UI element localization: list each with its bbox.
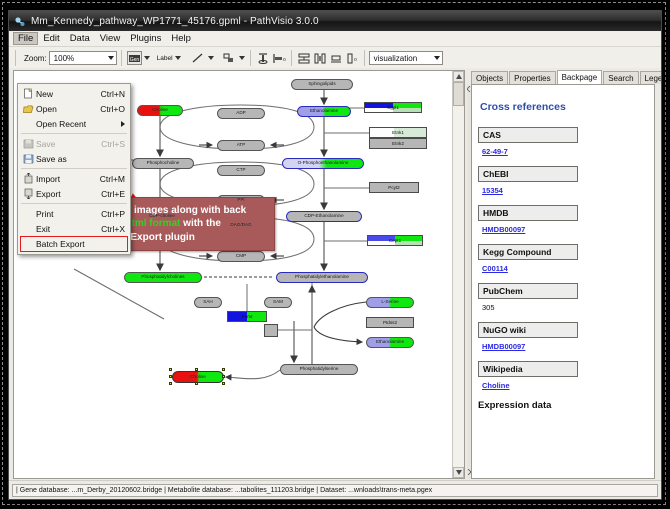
menu-item-exit[interactable]: Exit Ctrl+X — [18, 221, 130, 236]
xref-group-wikipedia: Wikipedia Choline — [478, 361, 652, 390]
xref-group-pubchem: PubChem 305 — [478, 283, 652, 312]
node-cept1[interactable]: Cept1 — [367, 235, 423, 246]
scroll-up-button[interactable] — [453, 71, 464, 82]
menu-item-label: Open — [36, 104, 100, 114]
node-label: L-Serine — [381, 300, 398, 305]
zoom-combobox[interactable]: 100% — [49, 51, 117, 65]
node-label: CTP — [236, 168, 245, 173]
node-label: ATP — [237, 143, 246, 148]
node-label: Ethanolamine — [310, 109, 338, 114]
node-pisd[interactable] — [264, 324, 278, 337]
node-cdp-ethanolamine[interactable]: CDP-Ethanolamine — [286, 211, 362, 222]
pathvisio-app-icon — [14, 15, 26, 27]
file-menu-dropdown[interactable]: New Ctrl+N Open Ctrl+O Open Recent — [17, 83, 131, 255]
blank-icon — [21, 117, 36, 130]
menu-file[interactable]: File — [13, 32, 38, 45]
node-phosphatidylethanolamine[interactable]: Phosphatidylethanolamine — [276, 272, 368, 283]
save-disk-icon — [21, 137, 36, 150]
xref-header: PubChem — [478, 283, 578, 299]
menu-help[interactable]: Help — [166, 32, 196, 45]
node-label: SAM — [273, 300, 283, 305]
menu-view[interactable]: View — [95, 32, 125, 45]
menu-separator — [21, 168, 127, 169]
statusbar: | Gene database: ...m_Derby_20120602.bri… — [9, 480, 661, 499]
node-label: Cept1 — [368, 236, 422, 245]
xref-group-hmdb: HMDB HMDB00097 — [478, 205, 652, 234]
xref-group-cas: CAS 62-49-7 — [478, 127, 652, 156]
xref-group-kegg: Kegg Compound C00114 — [478, 244, 652, 273]
zoom-label: Zoom: — [24, 54, 47, 63]
backpage-panel: Cross references CAS 62-49-7 ChEBI 15354… — [471, 84, 655, 479]
screenshot-root: Mm_Kennedy_pathway_WP1771_45176.gpml - P… — [0, 0, 670, 509]
menu-item-save-as[interactable]: Save as — [18, 151, 130, 166]
save-as-icon — [21, 152, 36, 165]
selection-handle[interactable] — [222, 375, 225, 378]
tab-objects[interactable]: Objects — [471, 71, 508, 84]
menu-item-open[interactable]: Open Ctrl+O — [18, 101, 130, 116]
line-icon — [190, 51, 206, 66]
pathvisio-window: Mm_Kennedy_pathway_WP1771_45176.gpml - P… — [8, 10, 662, 500]
label-dropdown[interactable]: Label — [157, 55, 181, 62]
window-titlebar: Mm_Kennedy_pathway_WP1771_45176.gpml - P… — [9, 11, 661, 31]
menu-separator — [21, 133, 127, 134]
xref-link[interactable]: C00114 — [482, 264, 652, 273]
xref-header: ChEBI — [478, 166, 578, 182]
banner-highlight: html format — [125, 218, 180, 229]
selection-handle[interactable] — [169, 368, 172, 371]
node-phosphatidylserine[interactable]: Phosphatidylserine — [280, 364, 358, 375]
menu-item-accel: Ctrl+S — [101, 139, 130, 149]
xref-group-nugo: NuGO wiki HMDB00097 — [478, 322, 652, 351]
menu-item-accel: Ctrl+E — [101, 189, 130, 199]
node-pemt[interactable]: Pemt — [227, 311, 267, 322]
node-phosphatidylcholines[interactable]: Phosphatidylcholines — [124, 272, 202, 283]
menu-item-label: Open Recent — [36, 119, 130, 129]
node-label: SAH — [203, 300, 212, 305]
tab-search[interactable]: Search — [603, 71, 638, 84]
xref-value: 305 — [482, 303, 652, 312]
menu-item-save[interactable]: Save Ctrl+S — [18, 136, 130, 151]
xref-group-chebi: ChEBI 15354 — [478, 166, 652, 195]
side-panel: Objects Properties Backpage Search Legen… — [467, 70, 657, 479]
line-dropdown[interactable] — [190, 51, 214, 66]
node-label: O-Phosphoethanolamine — [298, 161, 349, 166]
selection-handle[interactable] — [169, 382, 172, 385]
menu-item-label: New — [36, 89, 101, 99]
node-label: DAG/DAG — [230, 223, 251, 228]
chevron-down-icon — [239, 56, 245, 60]
toolbar-separator — [15, 50, 16, 66]
selection-handle[interactable] — [222, 368, 225, 371]
selection-handle[interactable] — [195, 368, 198, 371]
menu-item-label: Save — [36, 139, 101, 149]
menu-item-accel: Ctrl+O — [100, 104, 130, 114]
align-top-icon[interactable] — [255, 51, 271, 66]
node-label: Ethanolamine — [376, 340, 404, 345]
node-choline-top[interactable]: Choline — [137, 105, 183, 116]
node-label: Pcyt2 — [370, 183, 418, 192]
toolbar-separator — [291, 50, 292, 66]
node-label: Sgpl1 — [365, 103, 421, 112]
blank-icon — [21, 207, 36, 220]
panel-tabs[interactable]: Objects Properties Backpage Search Legen… — [467, 70, 657, 84]
node-label: CMP — [236, 254, 246, 259]
svg-text:Gen: Gen — [129, 57, 139, 63]
menu-item-accel: Ctrl+X — [101, 224, 130, 234]
toolbar-separator — [364, 50, 365, 66]
node-cmp[interactable]: CMP — [217, 251, 265, 262]
node-label: Phosphatidylcholines — [141, 275, 184, 280]
menu-item-label: Batch Export — [21, 239, 130, 249]
tab-properties[interactable]: Properties — [509, 71, 555, 84]
menu-item-export[interactable]: Export Ctrl+E — [18, 186, 130, 201]
zoom-value: 100% — [54, 54, 74, 63]
menu-item-print[interactable]: Print Ctrl+P — [18, 206, 130, 221]
import-icon — [21, 172, 36, 185]
xref-link[interactable]: Choline — [482, 381, 652, 390]
menu-item-accel: Ctrl+P — [101, 209, 130, 219]
menu-item-label: Print — [36, 209, 101, 219]
expression-data-heading: Expression data — [478, 400, 652, 411]
common-height-icon[interactable]: o — [344, 51, 360, 66]
menu-item-import[interactable]: Import Ctrl+M — [18, 171, 130, 186]
export-icon — [21, 187, 36, 200]
node-atp[interactable]: ATP — [217, 140, 265, 151]
node-sam[interactable]: SAM — [264, 297, 292, 308]
menu-item-label: Exit — [36, 224, 101, 234]
xref-header: CAS — [478, 127, 578, 143]
node-label — [265, 325, 277, 336]
node-sphingolipids[interactable]: Sphingolipids — [291, 79, 353, 90]
node-label: Choline — [152, 108, 168, 113]
node-sgpl1[interactable]: Sgpl1 — [364, 102, 422, 113]
toolbar-separator — [250, 50, 251, 66]
menu-item-label: Export — [36, 189, 101, 199]
menu-item-new[interactable]: New Ctrl+N — [18, 86, 130, 101]
new-document-icon — [21, 87, 36, 100]
node-etnk1[interactable]: Etnk1 — [369, 127, 427, 138]
selection-handle[interactable] — [222, 382, 225, 385]
menu-separator — [21, 203, 127, 204]
xref-link[interactable]: HMDB00097 — [482, 342, 652, 351]
chevron-down-icon — [144, 56, 150, 60]
canvas-vertical-scrollbar[interactable] — [452, 71, 464, 478]
node-label: Etnk1 — [370, 128, 426, 137]
datanode-dropdown[interactable]: Gen — [127, 51, 150, 65]
node-label: Phosphatidylserine — [300, 367, 339, 372]
xref-link[interactable]: 15354 — [482, 186, 652, 195]
menu-item-label: Save as — [36, 154, 125, 164]
menu-item-accel: Ctrl+N — [101, 89, 130, 99]
node-sah[interactable]: SAH — [194, 297, 222, 308]
align-left-icon[interactable]: o — [271, 51, 287, 66]
node-label: Etnk2 — [370, 139, 426, 148]
node-etnk2[interactable]: Etnk2 — [369, 138, 427, 149]
node-label: Choline — [190, 375, 206, 380]
xref-header: NuGO wiki — [478, 322, 578, 338]
visualization-value: visualization — [374, 54, 418, 63]
xref-link[interactable]: 62-49-7 — [482, 147, 652, 156]
xref-link[interactable]: HMDB00097 — [482, 225, 652, 234]
node-phosphocholine[interactable]: Phosphocholine — [132, 158, 194, 169]
status-text: | Gene database: ...m_Derby_20120602.bri… — [12, 484, 658, 497]
common-width-icon[interactable] — [328, 51, 344, 66]
node-label: Phosphatidylethanolamine — [295, 275, 349, 280]
stack-horizontal-icon[interactable] — [312, 51, 328, 66]
xref-header: Wikipedia — [478, 361, 578, 377]
menu-item-batch-export[interactable]: Batch Export — [18, 236, 130, 252]
node-ethanolamine-1[interactable]: Ethanolamine — [297, 106, 351, 117]
open-folder-icon — [21, 102, 36, 115]
menu-edit[interactable]: Edit — [38, 32, 64, 45]
node-label: CDP-choline — [149, 214, 175, 219]
submenu-chevron-icon — [121, 121, 125, 127]
node-label: CDP-Ethanolamine — [304, 214, 343, 219]
node-adp[interactable]: ADP — [217, 108, 265, 119]
menu-item-open-recent[interactable]: Open Recent — [18, 116, 130, 131]
blank-icon — [21, 222, 36, 235]
window-title: Mm_Kennedy_pathway_WP1771_45176.gpml - P… — [31, 16, 319, 27]
backpage-title: Cross references — [480, 101, 652, 113]
node-ptdss2[interactable]: Ptdss2 — [366, 317, 414, 328]
node-pcyt2[interactable]: Pcyt2 — [369, 182, 419, 193]
stack-vertical-icon[interactable] — [296, 51, 312, 66]
node-label: Ptdss2 — [367, 318, 413, 327]
selection-handle[interactable] — [169, 375, 172, 378]
node-label: Pemt — [228, 312, 266, 321]
menu-item-label: Import — [36, 174, 100, 184]
node-label: ADP — [236, 111, 245, 116]
toolbar-separator — [121, 50, 122, 66]
toolbar[interactable]: Zoom: 100% Gen Label — [9, 47, 661, 70]
chevron-down-icon — [175, 56, 181, 60]
menu-data[interactable]: Data — [65, 32, 95, 45]
menubar[interactable]: File Edit Data View Plugins Help — [9, 31, 661, 47]
tab-backpage[interactable]: Backpage — [557, 70, 603, 84]
xref-header: HMDB — [478, 205, 578, 221]
selection-handle[interactable] — [195, 382, 198, 385]
scroll-down-button[interactable] — [453, 467, 464, 478]
label-button-text: Label — [157, 55, 173, 62]
visualization-combobox[interactable]: visualization — [369, 51, 443, 65]
node-l-serine[interactable]: L-Serine — [366, 297, 414, 308]
xref-header: Kegg Compound — [478, 244, 578, 260]
tab-legend[interactable]: Legend — [640, 71, 662, 84]
node-o-phosphoethanolamine[interactable]: O-Phosphoethanolamine — [282, 158, 364, 169]
node-label: Phosphocholine — [147, 161, 180, 166]
node-label: PPi — [237, 198, 244, 203]
banner-line2-b: with the — [180, 218, 221, 229]
svg-text:o: o — [354, 57, 357, 63]
node-ctp[interactable]: CTP — [217, 165, 265, 176]
svg-text:o: o — [283, 57, 286, 63]
interaction-icon — [221, 51, 237, 66]
scrollbar-thumb[interactable] — [453, 82, 464, 106]
menu-item-accel: Ctrl+M — [100, 174, 130, 184]
chevron-down-icon — [434, 56, 440, 60]
menu-plugins[interactable]: Plugins — [125, 32, 166, 45]
node-label: Sphingolipids — [308, 82, 335, 87]
geneproduct-icon: Gen — [127, 51, 142, 65]
chevron-down-icon — [108, 56, 114, 60]
interaction-dropdown[interactable] — [221, 51, 245, 66]
node-ethanolamine-2[interactable]: Ethanolamine — [366, 337, 414, 348]
chevron-down-icon — [208, 56, 214, 60]
